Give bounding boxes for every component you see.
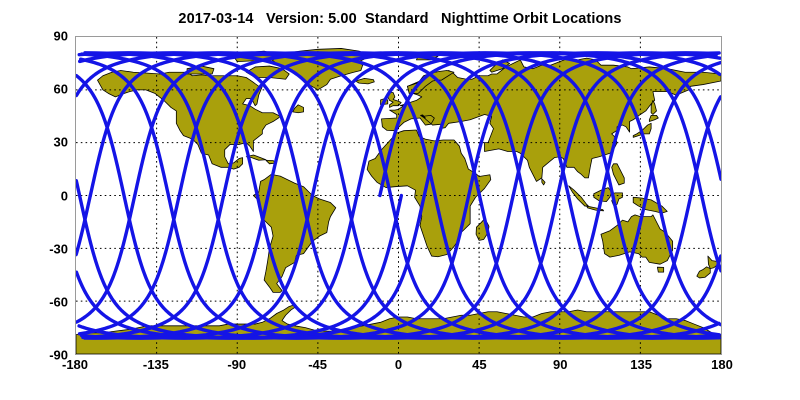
y-tick-text: 30 — [54, 135, 74, 150]
orbit-map-figure: 2017-03-14 Version: 5.00 Standard Nightt… — [0, 0, 800, 400]
map-canvas — [76, 37, 721, 354]
y-tick-text: 60 — [54, 82, 74, 97]
x-tick-label: 90 — [553, 357, 567, 372]
y-tick-label: -30 — [49, 241, 74, 256]
x-tick-label: 135 — [630, 357, 652, 372]
y-tick-label: 60 — [54, 82, 74, 97]
y-tick-label: -60 — [49, 294, 74, 309]
map-plot-area — [75, 36, 722, 355]
y-tick-text: 0 — [61, 188, 74, 203]
x-tick-label: -90 — [227, 357, 246, 372]
figure-title: 2017-03-14 Version: 5.00 Standard Nightt… — [0, 11, 800, 27]
y-tick-text: -30 — [49, 241, 74, 256]
x-tick-label: 0 — [395, 357, 402, 372]
y-tick-text: -60 — [49, 294, 74, 309]
y-tick-label: 30 — [54, 135, 74, 150]
landmass-tasmania — [657, 267, 663, 272]
y-tick-label: 90 — [54, 29, 74, 44]
y-tick-label: 0 — [61, 188, 74, 203]
y-tick-text: 90 — [54, 29, 74, 44]
x-tick-label: -135 — [143, 357, 169, 372]
x-tick-label: -180 — [62, 357, 88, 372]
x-tick-label: 45 — [472, 357, 486, 372]
x-tick-label: -45 — [308, 357, 327, 372]
x-tick-label: 180 — [711, 357, 733, 372]
